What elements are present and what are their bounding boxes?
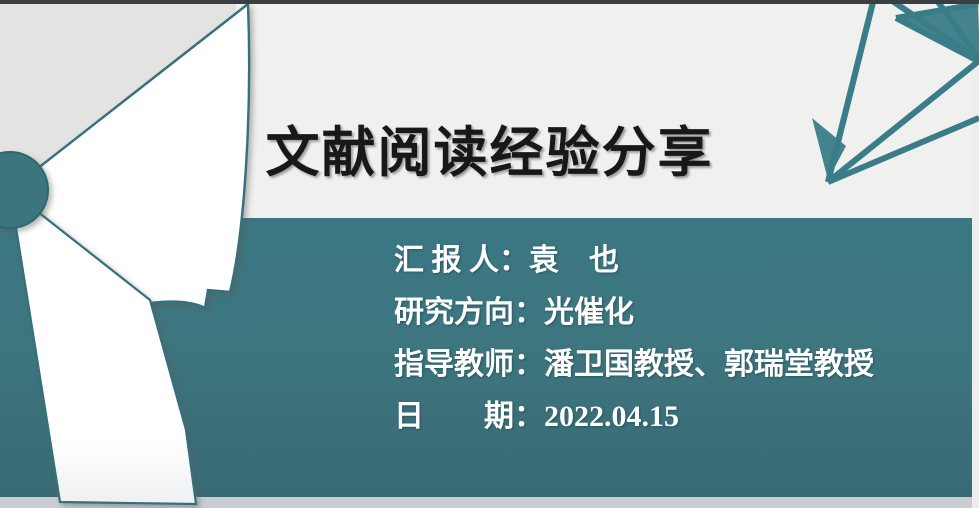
info-value-research-field: 光催化 xyxy=(544,296,634,329)
info-line-research-field: 研究方向：光催化 xyxy=(394,290,874,342)
info-label-date: 日 期： xyxy=(394,400,544,433)
presentation-slide: 文献阅读经验分享 汇 报 人：袁 也 研究方向：光催化 指导教师：潘卫国教授、郭… xyxy=(0,0,979,508)
top-rule xyxy=(0,0,979,4)
info-label-advisors: 指导教师： xyxy=(394,348,544,381)
info-label-presenter: 汇 报 人： xyxy=(394,244,529,277)
info-value-date: 2022.04.15 xyxy=(544,400,679,433)
info-line-advisors: 指导教师：潘卫国教授、郭瑞堂教授 xyxy=(394,342,874,394)
teal-triangle-wireframe-upper xyxy=(896,4,979,62)
right-edge-strip xyxy=(972,4,979,508)
slide-title: 文献阅读经验分享 xyxy=(0,108,979,187)
info-value-presenter: 袁 也 xyxy=(529,244,619,277)
info-line-date: 日 期：2022.04.15 xyxy=(394,394,874,446)
info-line-presenter: 汇 报 人：袁 也 xyxy=(394,238,874,290)
info-label-research-field: 研究方向： xyxy=(394,296,544,329)
bottom-edge-strip xyxy=(0,497,979,508)
info-value-advisors: 潘卫国教授、郭瑞堂教授 xyxy=(544,348,874,381)
slide-info-block: 汇 报 人：袁 也 研究方向：光催化 指导教师：潘卫国教授、郭瑞堂教授 日 期：… xyxy=(394,238,874,446)
